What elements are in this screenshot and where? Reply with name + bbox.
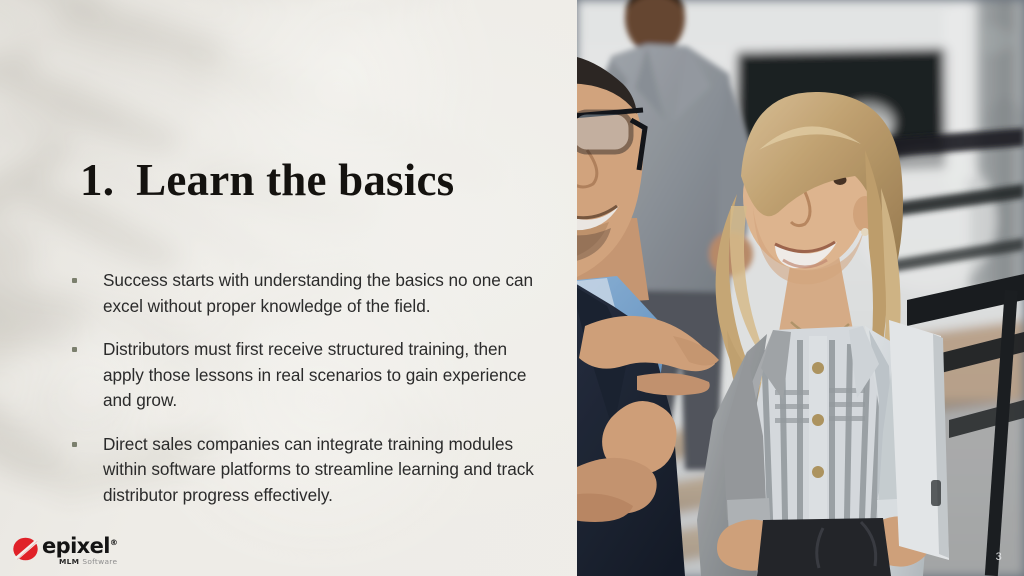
bullet-point-icon [72, 278, 77, 283]
logo-name-text: epixel [42, 534, 110, 558]
list-item-text: Success starts with understanding the ba… [103, 268, 550, 319]
list-item: Direct sales companies can integrate tra… [72, 432, 550, 509]
bullet-point-icon [72, 442, 77, 447]
list-item-text: Direct sales companies can integrate tra… [103, 432, 550, 509]
photo-illustration [577, 0, 1024, 576]
logo-tagline-primary: MLM [59, 558, 79, 565]
page-title: 1.Learn the basics [80, 154, 550, 206]
page-number: 3 [996, 551, 1002, 563]
logo-name: epixel® [42, 533, 117, 556]
logo-tagline-secondary: Software [82, 558, 117, 565]
title-number: 1. [80, 155, 114, 205]
epixel-mark-icon [12, 536, 40, 562]
epixel-wordmark: epixel® MLM Software [42, 533, 117, 565]
stock-photo: 3 [577, 0, 1024, 576]
content-panel: 1.Learn the basics Success starts with u… [0, 0, 577, 576]
list-item: Success starts with understanding the ba… [72, 268, 550, 319]
epixel-logo[interactable]: epixel® MLM Software [12, 534, 117, 564]
bullet-list: Success starts with understanding the ba… [72, 268, 550, 508]
title-text: Learn the basics [136, 155, 454, 205]
slide-canvas: 1.Learn the basics Success starts with u… [0, 0, 1024, 576]
logo-tagline: MLM Software [59, 558, 117, 565]
registered-trademark-icon: ® [110, 538, 117, 547]
list-item-text: Distributors must first receive structur… [103, 337, 550, 414]
list-item: Distributors must first receive structur… [72, 337, 550, 414]
bullet-point-icon [72, 347, 77, 352]
